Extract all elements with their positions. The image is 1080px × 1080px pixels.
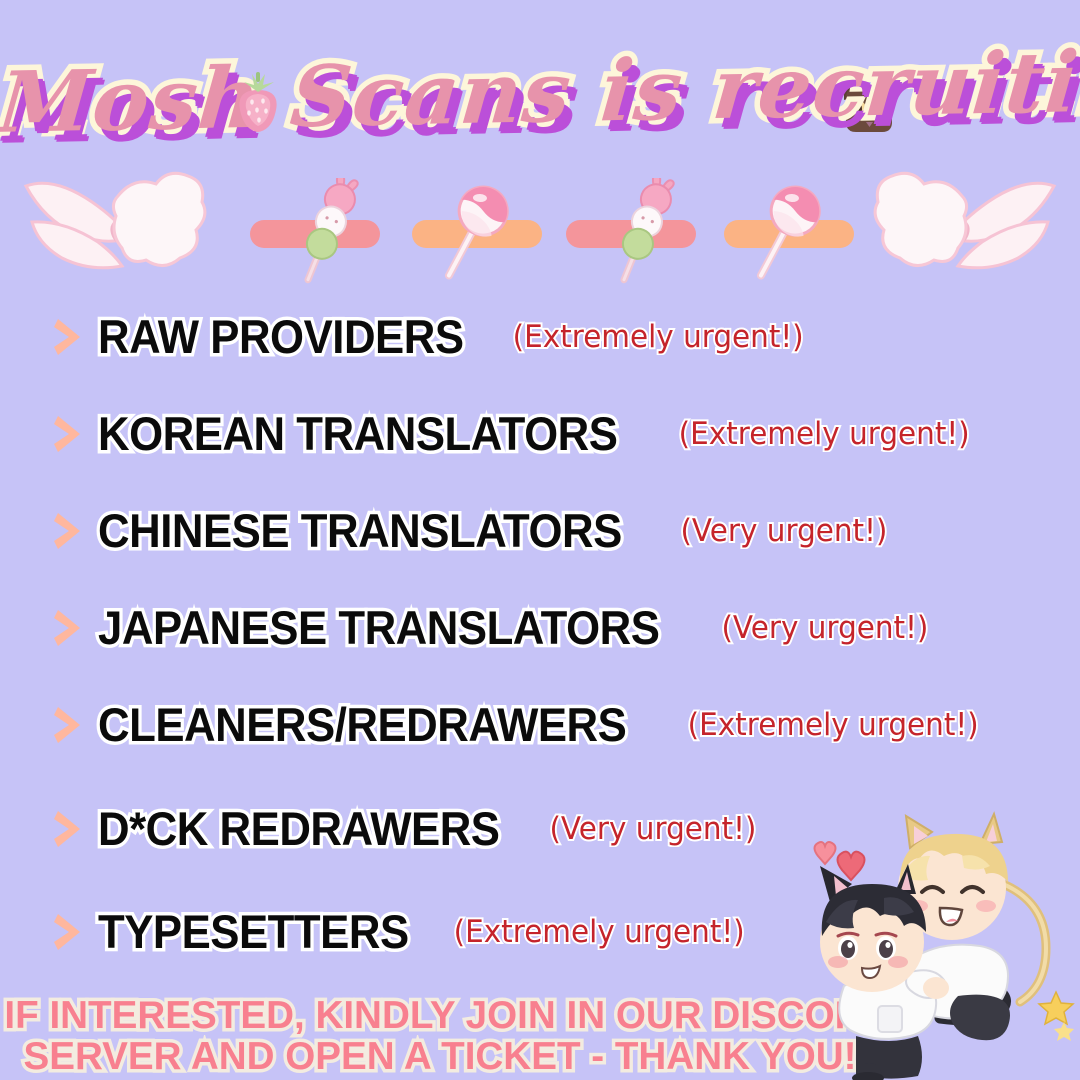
list-item: RAW PROVIDERS (Extremely urgent!) xyxy=(52,306,811,368)
header: Mosh Scans is recruiting! xyxy=(0,36,1080,156)
lollipop-icon-2 xyxy=(744,178,822,290)
divider-ornament xyxy=(0,160,1080,290)
list-item: D*CK REDRAWERS (Very urgent!) xyxy=(52,798,762,860)
chevron-right-icon xyxy=(52,314,86,360)
chevron-right-icon xyxy=(52,702,86,748)
role-name: RAW PROVIDERS xyxy=(98,312,464,362)
heart-icon xyxy=(815,842,865,880)
role-urgency: (Extremely urgent!) xyxy=(688,708,979,742)
footer-line-1: IF INTERESTED, KINDLY JOIN IN OUR DISCOR… xyxy=(4,995,875,1036)
chibi-catboys-illustration xyxy=(790,810,1080,1080)
role-urgency: (Extremely urgent!) xyxy=(454,915,745,949)
chevron-right-icon xyxy=(52,411,86,457)
role-urgency: (Very urgent!) xyxy=(681,514,888,548)
winged-cloud-icon-left xyxy=(18,168,208,286)
page-title: Mosh Scans is recruiting! xyxy=(0,24,1080,158)
lollipop-icon-1 xyxy=(432,178,510,290)
role-urgency: (Extremely urgent!) xyxy=(678,417,969,451)
list-item: CHINESE TRANSLATORS (Very urgent!) xyxy=(52,500,893,562)
role-name: TYPESETTERS xyxy=(98,907,409,957)
winged-cloud-icon-right xyxy=(872,168,1062,286)
list-item: CLEANERS/REDRAWERS (Extremely urgent!) xyxy=(52,694,986,756)
recruitment-poster: Mosh Scans is recruiting! xyxy=(0,0,1080,1080)
bunny-dango-icon-1 xyxy=(288,178,366,290)
chevron-right-icon xyxy=(52,508,86,554)
role-name: D*CK REDRAWERS xyxy=(98,804,499,854)
role-urgency: (Very urgent!) xyxy=(549,812,756,846)
bunny-dango-icon-2 xyxy=(604,178,682,290)
role-name: CHINESE TRANSLATORS xyxy=(98,506,622,556)
role-name: JAPANESE TRANSLATORS xyxy=(98,603,659,653)
role-name: CLEANERS/REDRAWERS xyxy=(98,700,626,750)
footer-line-2: SERVER AND OPEN A TICKET - THANK YOU! xyxy=(4,1036,875,1077)
strawberry-icon xyxy=(232,72,284,134)
role-name: KOREAN TRANSLATORS xyxy=(98,409,617,459)
star-icon xyxy=(1039,992,1074,1041)
footer: IF INTERESTED, KINDLY JOIN IN OUR DISCOR… xyxy=(0,995,880,1077)
chevron-right-icon xyxy=(52,909,86,955)
list-item: JAPANESE TRANSLATORS (Very urgent!) xyxy=(52,597,934,659)
role-urgency: (Extremely urgent!) xyxy=(513,320,804,354)
role-urgency: (Very urgent!) xyxy=(721,611,928,645)
list-item: KOREAN TRANSLATORS (Extremely urgent!) xyxy=(52,403,977,465)
chevron-right-icon xyxy=(52,806,86,852)
list-item: TYPESETTERS (Extremely urgent!) xyxy=(52,901,752,963)
chevron-right-icon xyxy=(52,605,86,651)
